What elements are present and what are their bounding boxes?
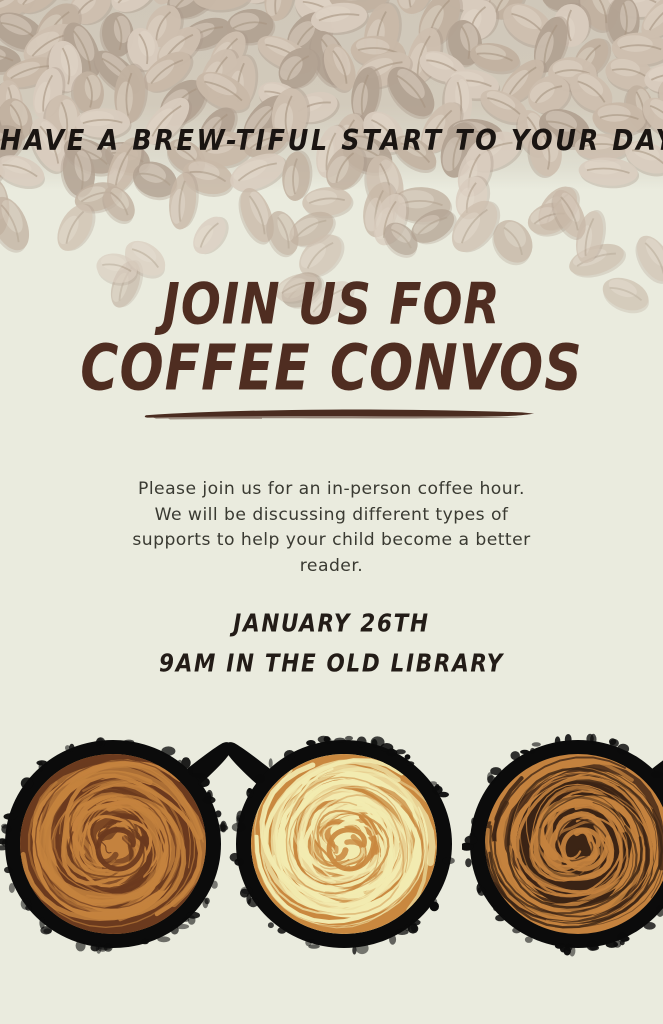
title-line-1: JOIN US FOR (0, 276, 663, 333)
coffee-cups-row (0, 728, 663, 968)
body-paragraph: Please join us for an in-person coffee h… (78, 477, 585, 579)
title-underline-brushstroke (0, 404, 663, 420)
event-time-location: 9AM IN THE OLD LIBRARY (0, 652, 663, 677)
coffee-cup-mocha (462, 728, 663, 968)
coffee-cup-latte (228, 728, 460, 968)
event-details: JANUARY 26TH 9AM IN THE OLD LIBRARY (0, 612, 663, 673)
body-line-3: supports to help your child become a bet… (78, 528, 585, 554)
page-title: JOIN US FOR COFFEE CONVOS (0, 276, 663, 389)
header-tagline: HAVE A BREW-TIFUL START TO YOUR DAY (0, 124, 663, 158)
coffee-cup-caramel (0, 728, 229, 968)
event-date: JANUARY 26TH (0, 612, 663, 637)
bean-backdrop (0, 0, 663, 190)
body-line-4: reader. (78, 554, 585, 580)
title-line-2: COFFEE CONVOS (0, 337, 663, 400)
body-line-2: We will be discussing different types of (78, 503, 585, 529)
body-line-1: Please join us for an in-person coffee h… (78, 477, 585, 503)
coffee-convos-flyer: HAVE A BREW-TIFUL START TO YOUR DAY JOIN… (0, 0, 663, 1024)
